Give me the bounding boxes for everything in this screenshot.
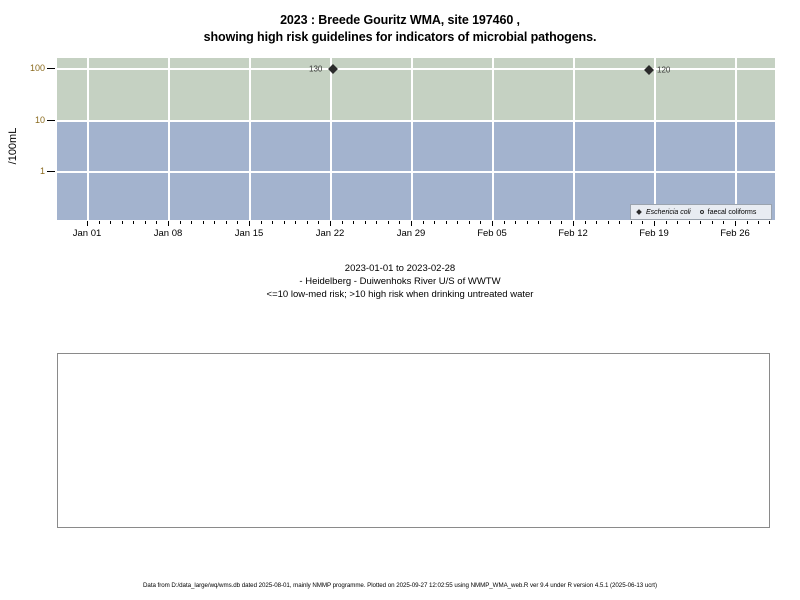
- subtitle-site-name: - Heidelberg - Duiwenhoks River U/S of W…: [0, 275, 800, 288]
- xtick-minor-28: [457, 221, 458, 224]
- xtick-minor-29: [469, 221, 470, 224]
- xtick-minor-5: [145, 221, 146, 224]
- y-axis-title: /100mL: [7, 111, 19, 181]
- xtick-minor-34: [538, 221, 539, 224]
- xtick-minor-9: [203, 221, 204, 224]
- xtick-minor-37: [585, 221, 586, 224]
- xtick-minor-7: [180, 221, 181, 224]
- xtick-minor-13: [261, 221, 262, 224]
- footer-note: Data from D:/data_large/wq/wms.db dated …: [0, 582, 800, 589]
- xtick-label-feb12: Feb 12: [543, 228, 603, 239]
- xtick-minor-33: [527, 221, 528, 224]
- gridline-x-jan15: [249, 58, 251, 220]
- xtick-minor-19: [342, 221, 343, 224]
- xtick-minor-6: [156, 221, 157, 224]
- gridline-x-feb05: [492, 58, 494, 220]
- xtick-mark-feb19: [654, 221, 655, 226]
- xtick-minor-8: [191, 221, 192, 224]
- legend-item-faecal-coliforms[interactable]: faecal coliforms: [700, 209, 757, 216]
- legend-label-faecal-coliforms: faecal coliforms: [708, 209, 757, 216]
- xtick-minor-36: [561, 221, 562, 224]
- ytick-mark-1: [47, 171, 55, 172]
- xtick-minor-50: [758, 221, 759, 224]
- gridline-x-jan01: [87, 58, 89, 220]
- gridline-x-jan29: [411, 58, 413, 220]
- xtick-label-jan08: Jan 08: [138, 228, 198, 239]
- xtick-minor-1: [99, 221, 100, 224]
- plot-panel: 130 120 Eschericia coli faecal coliforms: [57, 58, 775, 220]
- xtick-mark-jan01: [87, 221, 88, 226]
- xtick-minor-3: [122, 221, 123, 224]
- xtick-mark-jan22: [330, 221, 331, 226]
- filled-diamond-icon: [636, 209, 642, 215]
- xtick-mark-feb05: [492, 221, 493, 226]
- xtick-minor-12: [237, 221, 238, 224]
- xtick-minor-47: [712, 221, 713, 224]
- chart-legend: Eschericia coli faecal coliforms: [630, 204, 772, 220]
- subtitle-risk-note: <=10 low-med risk; >10 high risk when dr…: [0, 288, 800, 301]
- legend-label-ecoli: Eschericia coli: [646, 209, 691, 216]
- gridline-x-feb12: [573, 58, 575, 220]
- legend-item-ecoli[interactable]: Eschericia coli: [637, 209, 691, 216]
- chart-container: 130 120 Eschericia coli faecal coliforms…: [0, 0, 800, 340]
- xtick-mark-jan29: [411, 221, 412, 226]
- gridline-y-10: [57, 120, 775, 122]
- xtick-label-jan22: Jan 22: [300, 228, 360, 239]
- xtick-minor-26: [434, 221, 435, 224]
- xtick-minor-16: [295, 221, 296, 224]
- subtitle-date-range: 2023-01-01 to 2023-02-28: [0, 262, 800, 275]
- xtick-minor-22: [376, 221, 377, 224]
- xtick-minor-15: [284, 221, 285, 224]
- xtick-minor-39: [608, 221, 609, 224]
- xtick-minor-4: [133, 221, 134, 224]
- xtick-minor-14: [272, 221, 273, 224]
- data-point-label-1: 130: [309, 65, 322, 74]
- xtick-minor-32: [515, 221, 516, 224]
- xtick-minor-25: [423, 221, 424, 224]
- xtick-minor-41: [631, 221, 632, 224]
- xtick-minor-30: [480, 221, 481, 224]
- xtick-minor-40: [619, 221, 620, 224]
- gridline-x-feb19: [654, 58, 656, 220]
- xtick-minor-23: [388, 221, 389, 224]
- xtick-label-feb26: Feb 26: [705, 228, 765, 239]
- open-circle-icon: [700, 210, 704, 214]
- xtick-minor-48: [723, 221, 724, 224]
- xtick-minor-17: [307, 221, 308, 224]
- xtick-minor-27: [446, 221, 447, 224]
- xtick-minor-45: [689, 221, 690, 224]
- xtick-mark-jan15: [249, 221, 250, 226]
- gridline-x-jan08: [168, 58, 170, 220]
- xtick-minor-49: [747, 221, 748, 224]
- xtick-mark-feb26: [735, 221, 736, 226]
- xtick-minor-43: [666, 221, 667, 224]
- xtick-label-jan01: Jan 01: [57, 228, 117, 239]
- chart-subtitle: 2023-01-01 to 2023-02-28 - Heidelberg - …: [0, 262, 800, 301]
- gridline-x-jan22: [330, 58, 332, 220]
- xtick-minor-21: [365, 221, 366, 224]
- xtick-minor-2: [110, 221, 111, 224]
- ytick-label-1: 1: [19, 166, 45, 176]
- xtick-minor-42: [642, 221, 643, 224]
- chart-page: 2023 : Breede Gouritz WMA, site 197460 ,…: [0, 0, 800, 600]
- xtick-minor-38: [596, 221, 597, 224]
- xtick-minor-11: [226, 221, 227, 224]
- xtick-minor-35: [550, 221, 551, 224]
- xtick-minor-46: [700, 221, 701, 224]
- xtick-mark-feb12: [573, 221, 574, 226]
- xtick-minor-44: [677, 221, 678, 224]
- xtick-minor-51: [769, 221, 770, 224]
- xtick-minor-20: [353, 221, 354, 224]
- ytick-label-10: 10: [19, 115, 45, 125]
- xtick-minor-18: [318, 221, 319, 224]
- ytick-mark-100: [47, 68, 55, 69]
- xtick-minor-31: [504, 221, 505, 224]
- xtick-minor-24: [399, 221, 400, 224]
- xtick-label-jan15: Jan 15: [219, 228, 279, 239]
- xtick-label-feb19: Feb 19: [624, 228, 684, 239]
- gridline-y-1: [57, 171, 775, 173]
- xtick-label-feb05: Feb 05: [462, 228, 522, 239]
- ytick-label-100: 100: [19, 63, 45, 73]
- gridline-x-feb26: [735, 58, 737, 220]
- xtick-minor-10: [214, 221, 215, 224]
- xtick-label-jan29: Jan 29: [381, 228, 441, 239]
- xtick-mark-jan08: [168, 221, 169, 226]
- data-point-label-2: 120: [657, 66, 670, 75]
- ytick-mark-10: [47, 120, 55, 121]
- secondary-empty-panel: [57, 353, 770, 528]
